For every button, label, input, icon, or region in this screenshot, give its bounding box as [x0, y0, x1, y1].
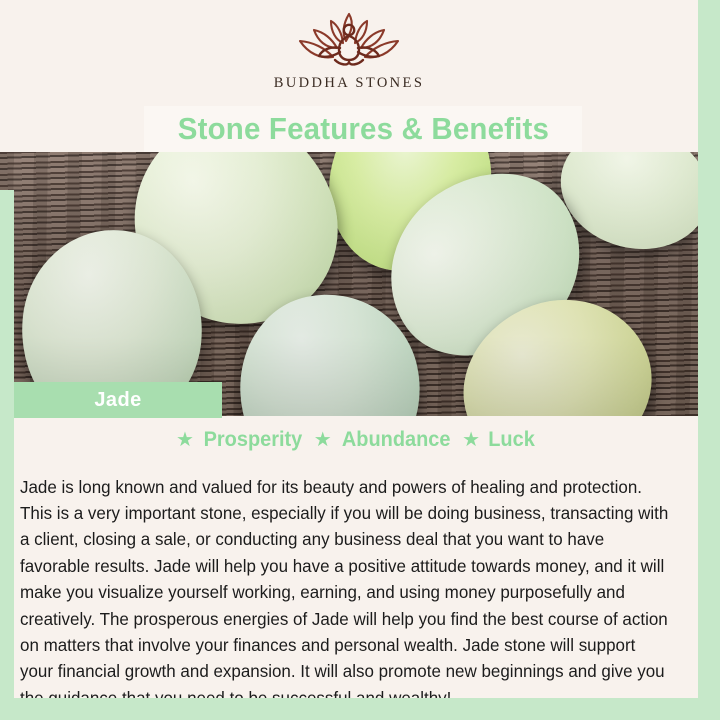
- stone-photo: [0, 152, 698, 416]
- stone-description: Jade is long known and valued for its be…: [20, 474, 668, 712]
- benefit-item-abundance: ★ Abundance: [314, 428, 453, 452]
- brand-name: BUDDHA STONES: [274, 75, 425, 92]
- title-banner: Stone Features & Benefits: [144, 106, 582, 152]
- frame-right-accent: [698, 0, 720, 700]
- stone-name-band: Jade: [14, 382, 222, 418]
- stone-name: Jade: [94, 389, 141, 412]
- lotus-meditation-icon: [274, 8, 424, 74]
- benefit-label: Prosperity: [204, 428, 303, 452]
- benefits-list: ★ Prosperity ★ Abundance ★ Luck: [14, 428, 698, 452]
- frame-left-accent: [0, 190, 14, 700]
- benefit-item-luck: ★ Luck: [462, 428, 536, 452]
- brand-header: BUDDHA STONES: [0, 0, 698, 108]
- benefit-label: Abundance: [342, 428, 451, 452]
- page-title: Stone Features & Benefits: [177, 111, 548, 147]
- star-icon: ★: [314, 430, 332, 450]
- benefit-item-prosperity: ★ Prosperity: [176, 428, 305, 452]
- benefit-label: Luck: [488, 428, 535, 452]
- star-icon: ★: [462, 430, 480, 450]
- star-icon: ★: [176, 430, 194, 450]
- content-card: BUDDHA STONES Stone Features & Benefits …: [0, 0, 698, 698]
- infographic-page: BUDDHA STONES Stone Features & Benefits …: [0, 0, 720, 720]
